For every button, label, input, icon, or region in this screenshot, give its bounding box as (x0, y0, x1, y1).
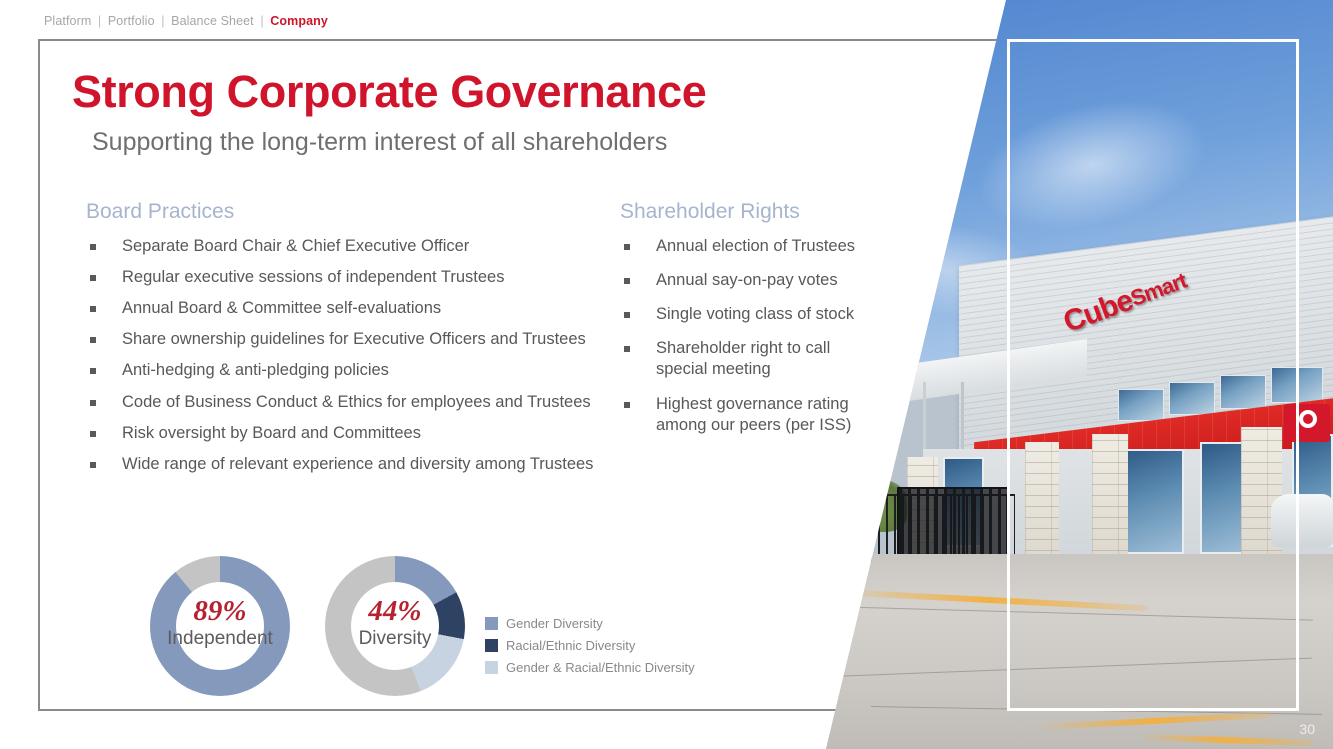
shareholder-rights-heading: Shareholder Rights (620, 200, 880, 224)
breadcrumb-item-portfolio[interactable]: Portfolio (108, 14, 155, 28)
donut-caption: Diversity (325, 626, 465, 652)
parked-car (1271, 494, 1333, 546)
board-practices-heading: Board Practices (86, 200, 596, 224)
legend-label: Gender & Racial/Ethnic Diversity (506, 660, 695, 675)
board-practices-column: Board Practices Separate Board Chair & C… (86, 200, 596, 485)
legend-item: Gender & Racial/Ethnic Diversity (485, 660, 695, 675)
breadcrumb-item-platform[interactable]: Platform (44, 14, 91, 28)
pavement (820, 554, 1333, 749)
building-window (1118, 389, 1164, 420)
legend-label: Racial/Ethnic Diversity (506, 638, 635, 653)
breadcrumb-separator: | (158, 14, 167, 28)
donut-caption: Independent (150, 626, 290, 652)
list-item: Single voting class of stock (620, 304, 880, 325)
pavement-seam (820, 658, 1312, 678)
stone-column (1092, 434, 1128, 561)
breadcrumb-separator: | (257, 14, 266, 28)
breadcrumb-separator: | (95, 14, 104, 28)
page-title: Strong Corporate Governance (72, 66, 706, 118)
breadcrumb-item-company[interactable]: Company (270, 14, 328, 28)
list-item: Anti-hedging & anti-pledging policies (86, 360, 596, 381)
donut-center-label: 89% Independent (150, 596, 290, 652)
donut-center-label: 44% Diversity (325, 596, 465, 652)
list-item: Highest governance rating among our peer… (620, 394, 880, 436)
parking-stripe (1035, 712, 1271, 730)
legend-label: Gender Diversity (506, 616, 603, 631)
parking-stripe (1138, 734, 1313, 746)
page-subtitle: Supporting the long-term interest of all… (92, 128, 667, 157)
diversity-legend: Gender Diversity Racial/Ethnic Diversity… (485, 616, 695, 682)
stone-column (1025, 442, 1058, 562)
legend-swatch-icon (485, 639, 498, 652)
diversity-donut-chart: 44% Diversity (325, 556, 465, 696)
list-item: Wide range of relevant experience and di… (86, 454, 596, 475)
red-circle-logo-icon (1299, 410, 1317, 428)
donut-percent-value: 89% (150, 596, 290, 626)
independent-donut-chart: 89% Independent (150, 556, 290, 696)
list-item: Code of Business Conduct & Ethics for em… (86, 392, 596, 413)
breadcrumb-item-balance-sheet[interactable]: Balance Sheet (171, 14, 254, 28)
donut-percent-value: 44% (325, 596, 465, 626)
list-item: Risk oversight by Board and Committees (86, 423, 596, 444)
building-window (1169, 382, 1215, 415)
breadcrumb: Platform | Portfolio | Balance Sheet | C… (44, 14, 328, 28)
legend-item: Racial/Ethnic Diversity (485, 638, 695, 653)
list-item: Annual Board & Committee self-evaluation… (86, 298, 596, 319)
list-item: Annual say-on-pay votes (620, 270, 880, 291)
list-item: Share ownership guidelines for Executive… (86, 329, 596, 350)
list-item: Shareholder right to call special meetin… (620, 338, 880, 380)
legend-swatch-icon (485, 617, 498, 630)
list-item: Separate Board Chair & Chief Executive O… (86, 236, 596, 257)
storefront-glass (1200, 442, 1246, 554)
shareholder-rights-list: Annual election of Trustees Annual say-o… (620, 236, 880, 436)
slide-number: 30 (1299, 721, 1315, 737)
slide: Platform | Portfolio | Balance Sheet | C… (0, 0, 1333, 749)
list-item: Regular executive sessions of independen… (86, 267, 596, 288)
legend-item: Gender Diversity (485, 616, 695, 631)
security-gate (897, 487, 1010, 562)
board-practices-list: Separate Board Chair & Chief Executive O… (86, 236, 596, 475)
list-item: Annual election of Trustees (620, 236, 880, 257)
legend-swatch-icon (485, 661, 498, 674)
building-window (1220, 375, 1266, 409)
shareholder-rights-column: Shareholder Rights Annual election of Tr… (620, 200, 880, 449)
pavement-seam (841, 606, 1313, 620)
building-window (1271, 367, 1322, 403)
